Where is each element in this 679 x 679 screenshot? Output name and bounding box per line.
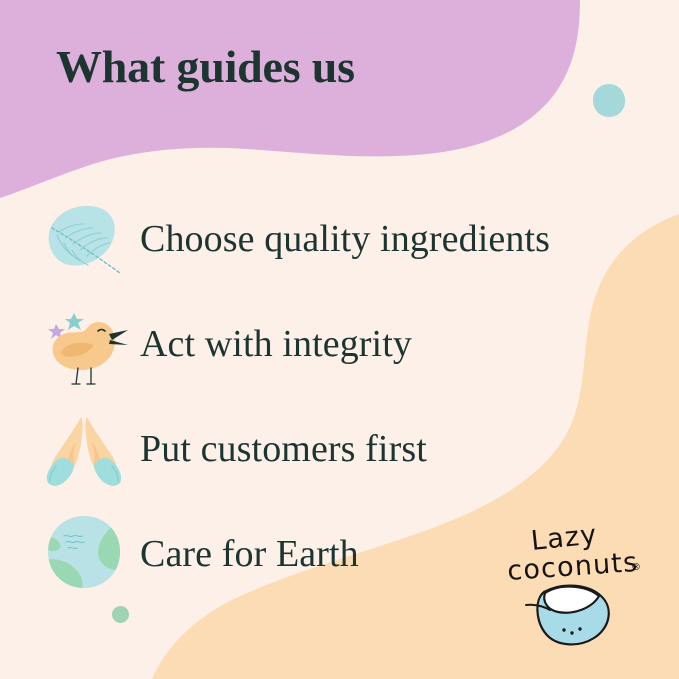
list-item: Act with integrity (0, 291, 679, 396)
logo-line2: coconuts (506, 547, 639, 587)
poster-canvas: What guides us (0, 0, 679, 679)
list-item: Put customers first (0, 396, 679, 501)
green-dot-shape (112, 606, 129, 623)
page-title: What guides us (56, 44, 355, 90)
right-sleeve (94, 457, 121, 485)
earth-globe-icon (34, 506, 134, 602)
bird-legs (72, 368, 95, 384)
praying-hands-icon (34, 401, 134, 497)
left-sleeve (47, 457, 74, 485)
coconut-half-icon (526, 586, 609, 645)
value-label: Act with integrity (140, 325, 412, 363)
star-teal (65, 313, 84, 330)
leaf-blade (49, 205, 115, 265)
teal-dot (590, 82, 628, 120)
teal-dot-shape (593, 84, 625, 117)
leaf-icon (34, 191, 134, 287)
singing-bird-icon (34, 296, 134, 392)
value-label: Choose quality ingredients (140, 220, 550, 258)
green-dot (110, 604, 131, 625)
value-label: Put customers first (140, 430, 427, 468)
logo-trademark: ® (631, 562, 641, 573)
value-label: Care for Earth (140, 535, 359, 573)
page-title-container: What guides us (56, 32, 616, 102)
brand-logo[interactable]: Lazy coconuts ® (500, 516, 660, 656)
list-item: Choose quality ingredients (0, 186, 679, 291)
